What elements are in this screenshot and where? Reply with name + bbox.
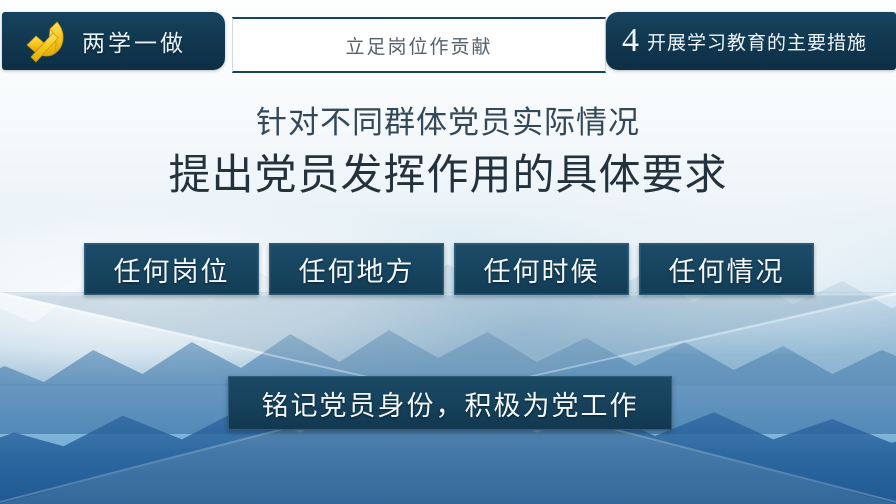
heading-subtitle: 针对不同群体党员实际情况: [0, 104, 896, 143]
hammer-sickle-emblem-icon: [20, 18, 72, 64]
pill-item-1[interactable]: 任何岗位: [84, 243, 259, 295]
section-number: 4: [622, 24, 639, 58]
section-label: 开展学习教育的主要措施: [647, 28, 867, 55]
brand-label: 两学一做: [82, 24, 186, 58]
pill-row: 任何岗位 任何地方 任何时候 任何情况: [84, 243, 814, 295]
center-title-panel: 立足岗位作贡献: [232, 17, 606, 73]
pill-item-3[interactable]: 任何时候: [454, 243, 629, 295]
brand-badge[interactable]: 两学一做: [2, 12, 225, 70]
slide-canvas: 两学一做 立足岗位作贡献 4 开展学习教育的主要措施 针对不同群体党员实际情况 …: [0, 0, 896, 504]
bottom-banner: 铭记党员身份，积极为党工作: [228, 376, 672, 430]
heading-title: 提出党员发挥作用的具体要求: [0, 149, 896, 204]
pill-label: 任何地方: [299, 250, 415, 289]
section-badge[interactable]: 4 开展学习教育的主要措施: [606, 12, 896, 70]
pill-label: 任何岗位: [114, 250, 230, 289]
headings-block: 针对不同群体党员实际情况 提出党员发挥作用的具体要求: [0, 104, 896, 203]
header-bar: 两学一做 立足岗位作贡献 4 开展学习教育的主要措施: [0, 12, 896, 70]
pill-label: 任何情况: [669, 250, 785, 289]
pill-item-4[interactable]: 任何情况: [639, 243, 814, 295]
pill-label: 任何时候: [484, 250, 600, 289]
bottom-banner-text: 铭记党员身份，积极为党工作: [262, 384, 639, 423]
pill-item-2[interactable]: 任何地方: [269, 243, 444, 295]
center-title-text: 立足岗位作贡献: [345, 32, 492, 59]
